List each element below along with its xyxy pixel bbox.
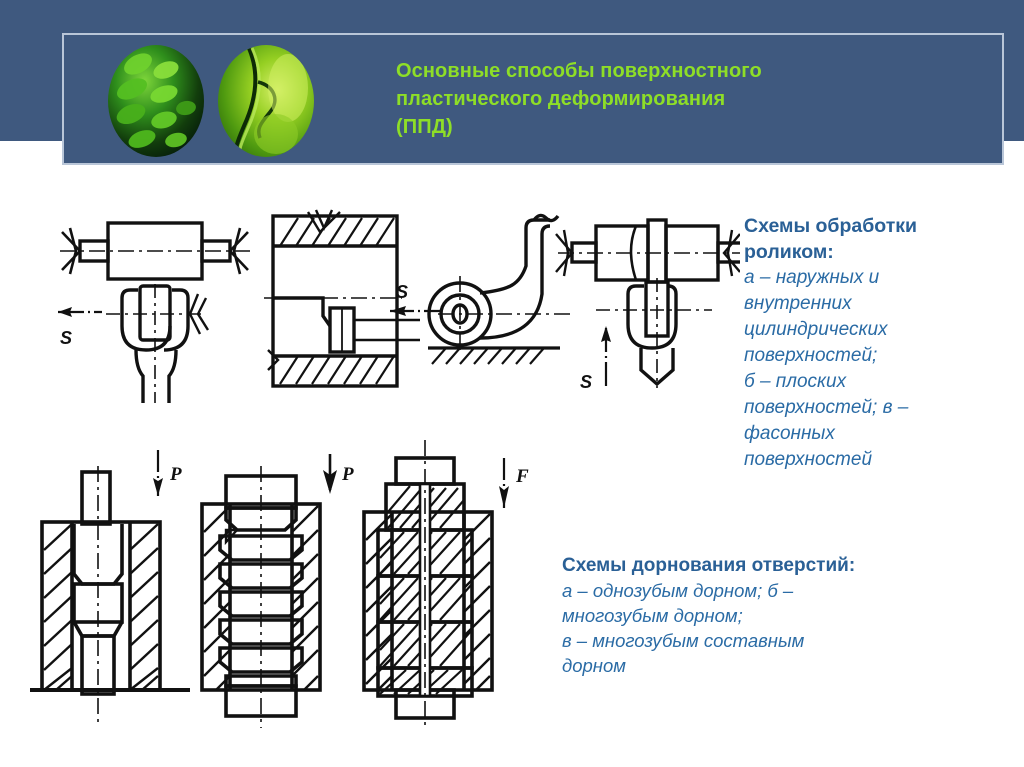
caption-2-body-line-3: в – многозубым составным: [562, 628, 1022, 653]
caption-2-body-line-4: дорном: [562, 653, 1022, 678]
feed-arrow-s-d: [601, 326, 611, 386]
caption-roller-schemes: Схемы обработки роликом: а – наружных и …: [744, 213, 1016, 473]
header-title-box: Основные способы поверхностного пластиче…: [62, 33, 1004, 165]
green-pod-photo-2: [218, 45, 314, 158]
caption-1-body-line-2: внутренних: [744, 291, 1016, 317]
caption-2-body-line-1: а – однозубым дорном; б –: [562, 578, 1022, 603]
label-p-scheme-a: P: [169, 464, 182, 485]
header-image-group: [98, 42, 348, 160]
caption-1-body-line-8: поверхностей: [744, 447, 1016, 473]
slide-title: Основные способы поверхностного пластиче…: [396, 57, 986, 141]
label-s-scheme-d: S: [580, 372, 592, 392]
label-s-scheme-b: S: [396, 282, 408, 302]
caption-2-heading-line-1: Схемы дорнования отверстий:: [562, 553, 1022, 578]
caption-1-body-line-7: фасонных: [744, 421, 1016, 447]
scheme-d-shaped-surface-roller: [556, 220, 740, 388]
force-arrow-f-c: [499, 458, 509, 508]
scheme-a-single-tooth-mandrel: [30, 450, 190, 724]
label-p-scheme-b: P: [341, 464, 354, 485]
title-line-2: пластического деформирования: [396, 85, 986, 113]
force-arrow-p-b: [323, 454, 337, 494]
green-pod-photo-1: [108, 42, 204, 160]
caption-1-body-line-6: поверхностей; в –: [744, 395, 1016, 421]
caption-1-heading-line-2: роликом:: [744, 239, 1016, 265]
scheme-a-external-roller: [58, 223, 252, 403]
caption-1-body-line-4: поверхностей;: [744, 343, 1016, 369]
feed-arrow-s-a: [58, 307, 102, 317]
scheme-b-internal-roller: [264, 210, 440, 386]
title-line-1: Основные способы поверхностного: [396, 57, 986, 85]
scheme-c-composite-mandrel: [364, 440, 509, 728]
caption-1-heading-line-1: Схемы обработки: [744, 213, 1016, 239]
label-f-scheme-c: F: [515, 466, 529, 487]
title-line-3: (ППД): [396, 113, 986, 141]
scheme-c-flat-surface-roller: [428, 215, 570, 364]
scheme-b-multi-tooth-mandrel: [202, 454, 337, 728]
caption-1-body-line-5: б – плоских: [744, 369, 1016, 395]
label-s-scheme-a: S: [60, 328, 72, 348]
caption-2-body-line-2: многозубым дорном;: [562, 603, 1022, 628]
roller-burnishing-diagram: S S S: [40, 198, 740, 403]
mandrel-broaching-diagram: P P F: [30, 432, 560, 732]
force-arrow-p-a: [153, 450, 163, 496]
caption-1-body-line-3: цилиндрических: [744, 317, 1016, 343]
caption-1-body-line-1: а – наружных и: [744, 265, 1016, 291]
caption-mandrel-schemes: Схемы дорнования отверстий: а – однозубы…: [562, 553, 1022, 678]
